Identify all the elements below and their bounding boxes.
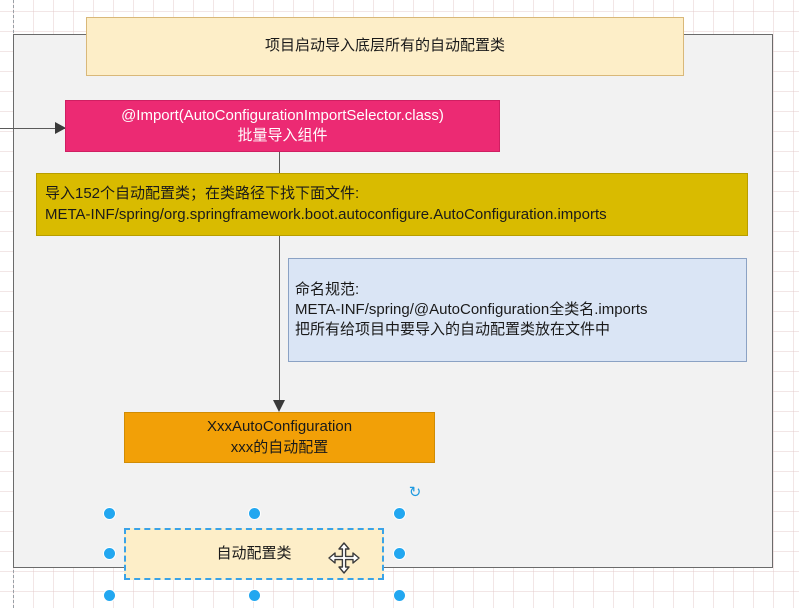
- naming-convention-line-2: META-INF/spring/@AutoConfiguration全类名.im…: [295, 300, 648, 320]
- move-cursor-icon: [327, 541, 361, 575]
- banner-note[interactable]: 项目启动导入底层所有的自动配置类: [86, 17, 684, 76]
- naming-convention-note[interactable]: 命名规范: META-INF/spring/@AutoConfiguration…: [288, 258, 747, 362]
- diagram-canvas[interactable]: 项目启动导入底层所有的自动配置类 @Import(AutoConfigurati…: [0, 0, 799, 608]
- rotate-icon[interactable]: ↻: [407, 485, 423, 501]
- yellow-to-orange-line: [279, 236, 280, 406]
- import-count-note-line-2: META-INF/spring/org.springframework.boot…: [45, 205, 607, 225]
- handle-bottom-right[interactable]: [394, 590, 405, 601]
- yellow-to-orange-arrow-head-icon: [273, 400, 285, 412]
- import-to-yellow-line: [279, 152, 280, 173]
- handle-bottom-center[interactable]: [249, 590, 260, 601]
- handle-bottom-left[interactable]: [104, 590, 115, 601]
- handle-middle-left[interactable]: [104, 548, 115, 559]
- handle-middle-right[interactable]: [394, 548, 405, 559]
- import-annotation-line-1: @Import(AutoConfigurationImportSelector.…: [121, 106, 444, 126]
- xxx-autoconfiguration-line-1: XxxAutoConfiguration: [207, 417, 352, 437]
- banner-note-line-1: 项目启动导入底层所有的自动配置类: [265, 36, 505, 56]
- import-annotation-line-2: 批量导入组件: [237, 126, 327, 146]
- import-count-note[interactable]: 导入152个自动配置类；在类路径下找下面文件: META-INF/spring/…: [36, 173, 748, 236]
- handle-top-left[interactable]: [104, 508, 115, 519]
- handle-top-center[interactable]: [249, 508, 260, 519]
- auto-config-class-label: 自动配置类: [216, 544, 291, 564]
- naming-convention-line-1: 命名规范:: [295, 280, 359, 300]
- import-count-note-line-1: 导入152个自动配置类；在类路径下找下面文件:: [45, 184, 359, 204]
- handle-top-right[interactable]: [394, 508, 405, 519]
- xxx-autoconfiguration-line-2: xxx的自动配置: [231, 438, 329, 458]
- xxx-autoconfiguration-box[interactable]: XxxAutoConfiguration xxx的自动配置: [124, 412, 435, 463]
- naming-convention-line-3: 把所有给项目中要导入的自动配置类放在文件中: [295, 320, 610, 340]
- import-annotation-box[interactable]: @Import(AutoConfigurationImportSelector.…: [65, 100, 500, 152]
